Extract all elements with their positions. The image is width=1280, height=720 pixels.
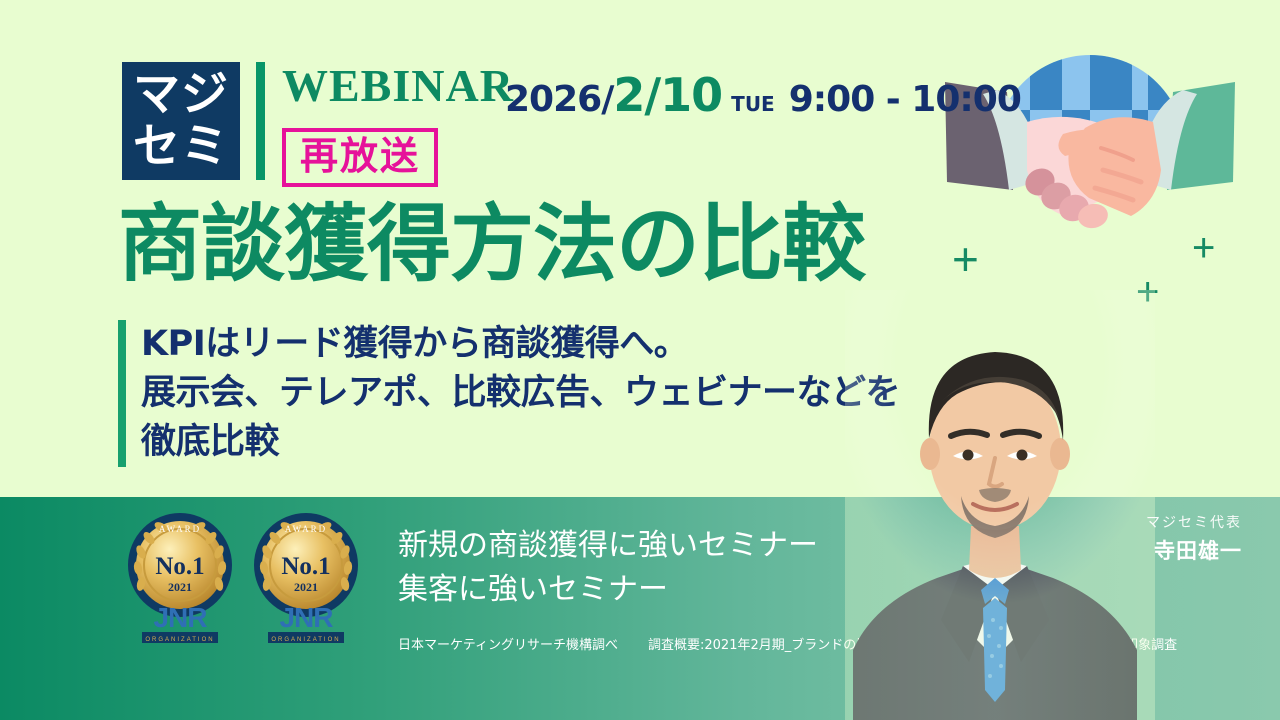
band-headline-line: 集客に強いセミナー: [398, 568, 818, 612]
presenter-role: マジセミ代表: [1146, 512, 1242, 532]
band-headline-line: 新規の商談獲得に強いセミナー: [398, 524, 818, 568]
subtitle-block: KPIはリード獲得から商談獲得へ。 展示会、テレアポ、比較広告、ウェビナーなどを…: [118, 320, 900, 467]
webinar-datetime: 2026/ 2/10 TUE 9:00 - 10:00: [505, 68, 1021, 122]
svg-text:AWARD: AWARD: [285, 524, 327, 534]
svg-text:JNR: JNR: [279, 602, 333, 633]
presenter-caption: マジセミ代表 寺田雄一: [1146, 512, 1242, 565]
band-headline: 新規の商談獲得に強いセミナー 集客に強いセミナー: [398, 524, 818, 612]
plus-decoration-icon: +: [1192, 228, 1215, 268]
logo-line-1: マジ: [133, 69, 229, 121]
svg-text:ORGANIZATION: ORGANIZATION: [145, 637, 214, 643]
date-year: 2026/: [505, 79, 613, 120]
subtitle-text: KPIはリード獲得から商談獲得へ。 展示会、テレアポ、比較広告、ウェビナーなどを…: [141, 320, 900, 467]
presenter-name-text: 寺田雄一: [1146, 535, 1242, 565]
subtitle-line: KPIはリード獲得から商談獲得へ。: [141, 320, 900, 369]
svg-text:ORGANIZATION: ORGANIZATION: [271, 637, 340, 643]
svg-text:JNR: JNR: [153, 602, 207, 633]
logo-line-2: セミ: [133, 121, 229, 173]
header-accent-bar: [256, 62, 265, 180]
page-title: 商談獲得方法の比較: [118, 196, 865, 292]
award-medal: AWARD No.1 2021 JNR ORGANIZATION: [250, 508, 362, 648]
svg-text:No.1: No.1: [281, 553, 330, 580]
webinar-banner: + + + マジ セミ WEBINAR 2026/ 2/10 TUE 9:00 …: [0, 0, 1280, 720]
webinar-label: WEBINAR: [282, 62, 514, 110]
majisemi-logo: マジ セミ: [122, 62, 240, 180]
presenter-photo: [845, 290, 1155, 720]
date-day-of-week: TUE: [731, 92, 775, 116]
subtitle-line: 展示会、テレアポ、比較広告、ウェビナーなどを: [141, 369, 900, 418]
subtitle-accent-bar: [118, 320, 126, 467]
survey-source-note: 日本マーケティングリサーチ機構調べ: [398, 634, 618, 653]
date-month-day: 2/10: [613, 68, 722, 122]
rebroadcast-badge: 再放送: [282, 128, 438, 187]
plus-decoration-icon: +: [952, 236, 979, 282]
award-medal: AWARD No.1 2021 JNR ORGANIZATION: [124, 508, 236, 648]
svg-text:No.1: No.1: [155, 553, 204, 580]
award-top-label: AWARD: [159, 524, 201, 534]
svg-text:2021: 2021: [294, 580, 318, 594]
time-range: 9:00 - 10:00: [789, 79, 1021, 120]
svg-text:2021: 2021: [168, 580, 192, 594]
subtitle-line: 徹底比較: [141, 418, 900, 467]
